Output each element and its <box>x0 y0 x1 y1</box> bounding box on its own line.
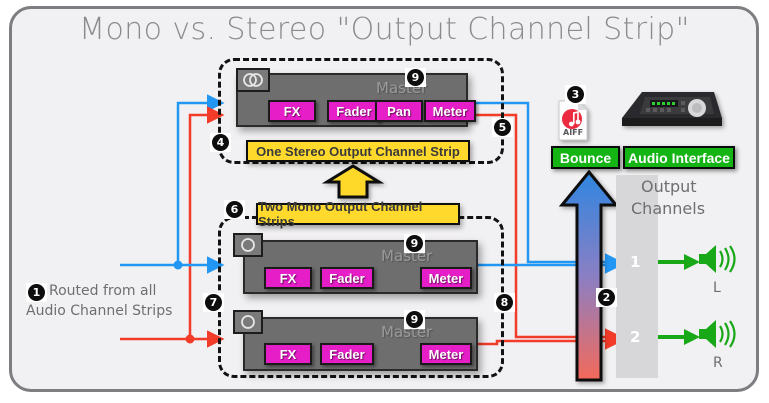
diagram-canvas: Mono vs. Stereo "Output Channel Strip" <box>0 0 769 403</box>
mono2-pill-fx[interactable]: FX <box>264 343 312 365</box>
stereo-mode-button[interactable] <box>236 68 270 92</box>
mono1-pill-meter[interactable]: Meter <box>420 267 472 289</box>
stereo-pill-pan[interactable]: Pan <box>375 100 423 122</box>
mono-mode-button-2[interactable] <box>233 310 263 334</box>
output-jack-1-number: 1 <box>630 253 640 271</box>
badge-9-mono-1: 9 <box>404 234 425 253</box>
stereo-pill-fx[interactable]: FX <box>268 100 316 122</box>
badge-2: 2 <box>596 288 617 307</box>
badge-8: 8 <box>494 293 515 312</box>
aiff-file-label: AIFF <box>563 128 583 137</box>
left-note-line2: Audio Channel Strips <box>26 303 172 319</box>
badge-4: 4 <box>210 133 231 152</box>
mono2-pill-fader[interactable]: Fader <box>320 343 374 365</box>
badge-9-mono-2: 9 <box>404 310 425 329</box>
badge-7: 7 <box>203 293 224 312</box>
badge-1: 1 <box>26 283 47 302</box>
mono2-pill-meter[interactable]: Meter <box>420 343 472 365</box>
mono-mode-button-1[interactable] <box>233 233 263 257</box>
mono-caption-bar: Two Mono Output Channel Strips <box>256 203 460 225</box>
speaker-label-R: R <box>713 355 723 371</box>
badge-3: 3 <box>565 85 586 104</box>
badge-5: 5 <box>492 118 513 137</box>
output-jack-2-number: 2 <box>630 328 640 346</box>
audio-interface-button[interactable]: Audio Interface <box>623 146 735 169</box>
stereo-pill-fader[interactable]: Fader <box>327 100 381 122</box>
output-channels-line1: Output <box>641 177 697 196</box>
output-channels-line2: Channels <box>631 199 705 218</box>
bounce-button[interactable]: Bounce <box>551 146 620 169</box>
speaker-label-L: L <box>713 280 721 296</box>
left-note-line1: Routed from all <box>49 283 156 299</box>
stereo-pill-meter[interactable]: Meter <box>424 100 476 122</box>
mono1-pill-fx[interactable]: FX <box>264 267 312 289</box>
badge-6: 6 <box>224 200 245 219</box>
stereo-caption-bar: One Stereo Output Channel Strip <box>246 140 470 162</box>
badge-9-stereo: 9 <box>405 68 426 87</box>
page-title: Mono vs. Stereo "Output Channel Strip" <box>0 12 769 47</box>
mono1-pill-fader[interactable]: Fader <box>320 267 374 289</box>
